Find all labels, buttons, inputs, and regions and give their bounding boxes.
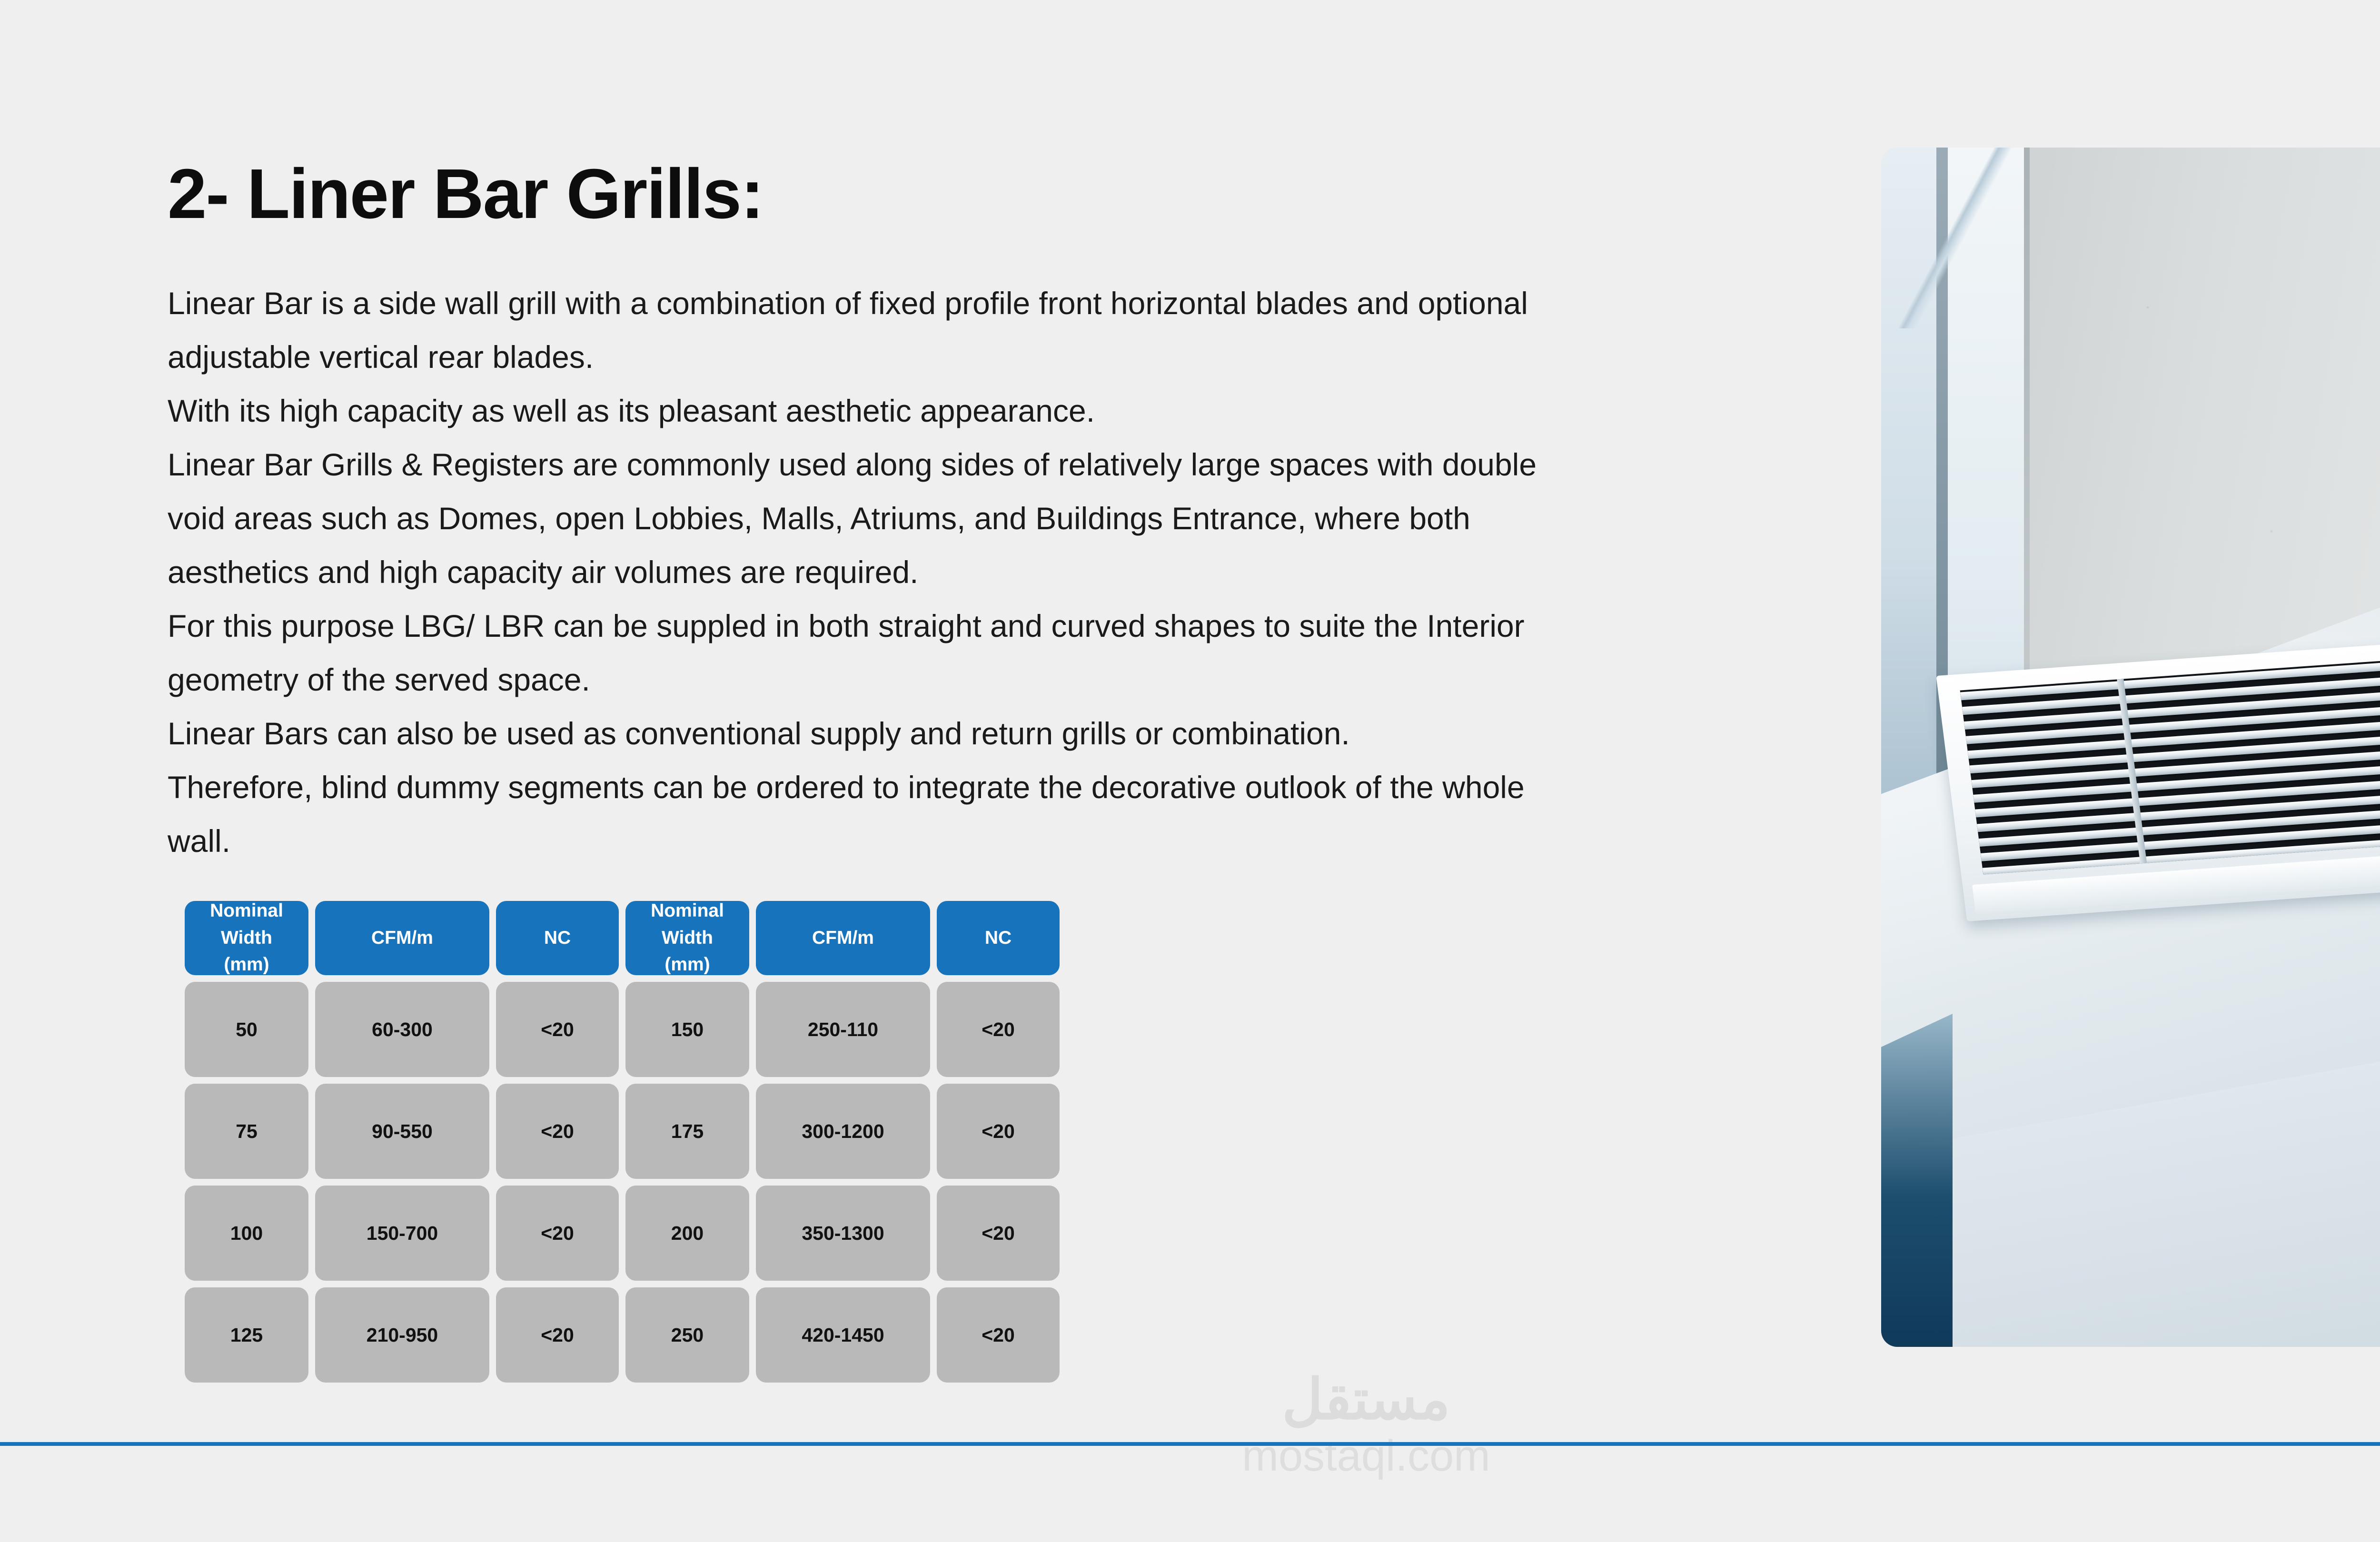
table-cell: 175 [625, 1084, 749, 1179]
body-line: Linear Bar is a side wall grill with a c… [168, 277, 1848, 330]
table-cell: 90-550 [315, 1084, 489, 1179]
table-row: 125 210-950 <20 250 420-1450 <20 [185, 1287, 1740, 1383]
table-cell: <20 [937, 1186, 1060, 1281]
body-line: Therefore, blind dummy segments can be o… [168, 761, 1848, 814]
table-cell: <20 [937, 1287, 1060, 1383]
table-row: 100 150-700 <20 200 350-1300 <20 [185, 1186, 1740, 1281]
column-header-cfm-2: CFM/m [756, 901, 930, 975]
spec-table: Nominal Width (mm) CFM/m NC Nominal Widt… [185, 901, 1740, 1383]
body-line: With its high capacity as well as its pl… [168, 384, 1848, 438]
body-line: aesthetics and high capacity air volumes… [168, 545, 1848, 599]
table-cell: 350-1300 [756, 1186, 930, 1281]
table-row: 50 60-300 <20 150 250-110 <20 [185, 982, 1740, 1077]
table-cell: 75 [185, 1084, 308, 1179]
table-cell: <20 [496, 982, 619, 1077]
body-line: Linear Bar Grills & Registers are common… [168, 438, 1848, 492]
table-cell: 250-110 [756, 982, 930, 1077]
column-header-nominal-width-2: Nominal Width (mm) [625, 901, 749, 975]
body-line: geometry of the served space. [168, 653, 1848, 707]
table-row: 75 90-550 <20 175 300-1200 <20 [185, 1084, 1740, 1179]
header-main: Nominal Width [185, 898, 308, 951]
table-cell: <20 [496, 1287, 619, 1383]
table-cell: 420-1450 [756, 1287, 930, 1383]
photo-illustration [1881, 148, 2380, 1347]
header-main: Nominal Width [625, 898, 749, 951]
table-cell: 60-300 [315, 982, 489, 1077]
content-column: 2- Liner Bar Grills: Linear Bar is a sid… [168, 157, 1843, 868]
table-cell: <20 [496, 1186, 619, 1281]
table-cell: 300-1200 [756, 1084, 930, 1179]
table-cell: 200 [625, 1186, 749, 1281]
header-main: CFM/m [812, 925, 874, 952]
page-title: 2- Liner Bar Grills: [168, 157, 1843, 231]
body-line: Linear Bars can also be used as conventi… [168, 707, 1848, 761]
column-header-nc-1: NC [496, 901, 619, 975]
product-photo [1881, 148, 2380, 1347]
table-cell: <20 [937, 1084, 1060, 1179]
concrete-wall [2024, 148, 2380, 681]
grille-slots [1960, 652, 2380, 874]
header-main: NC [544, 925, 571, 952]
table-cell: 250 [625, 1287, 749, 1383]
column-header-nc-2: NC [937, 901, 1060, 975]
linear-bar-grille [1936, 635, 2380, 921]
table-cell: 150-700 [315, 1186, 489, 1281]
table-cell: 125 [185, 1287, 308, 1383]
table-cell: <20 [496, 1084, 619, 1179]
footer-rule [0, 1442, 2380, 1446]
watermark-latin: mostaql.com [1176, 1430, 1557, 1482]
body-line: wall. [168, 814, 1848, 868]
watermark: مستقل mostaql.com [1176, 1371, 1557, 1482]
body-line: void areas such as Domes, open Lobbies, … [168, 492, 1848, 545]
table-cell: 50 [185, 982, 308, 1077]
column-header-nominal-width-1: Nominal Width (mm) [185, 901, 308, 975]
header-sub: (mm) [224, 951, 269, 979]
table-cell: 100 [185, 1186, 308, 1281]
column-header-cfm-1: CFM/m [315, 901, 489, 975]
body-line: adjustable vertical rear blades. [168, 330, 1848, 384]
body-line: For this purpose LBG/ LBR can be suppled… [168, 599, 1848, 653]
blue-floor-accent [1881, 1014, 1953, 1347]
light-streak [1886, 148, 2048, 328]
table-header-row: Nominal Width (mm) CFM/m NC Nominal Widt… [185, 901, 1740, 975]
header-main: CFM/m [371, 925, 433, 952]
table-cell: 150 [625, 982, 749, 1077]
table-cell: <20 [937, 982, 1060, 1077]
body-copy: Linear Bar is a side wall grill with a c… [168, 277, 1848, 868]
table-cell: 210-950 [315, 1287, 489, 1383]
header-main: NC [985, 925, 1011, 952]
slide-canvas: 2- Liner Bar Grills: Linear Bar is a sid… [0, 0, 2380, 1542]
header-sub: (mm) [664, 951, 710, 979]
